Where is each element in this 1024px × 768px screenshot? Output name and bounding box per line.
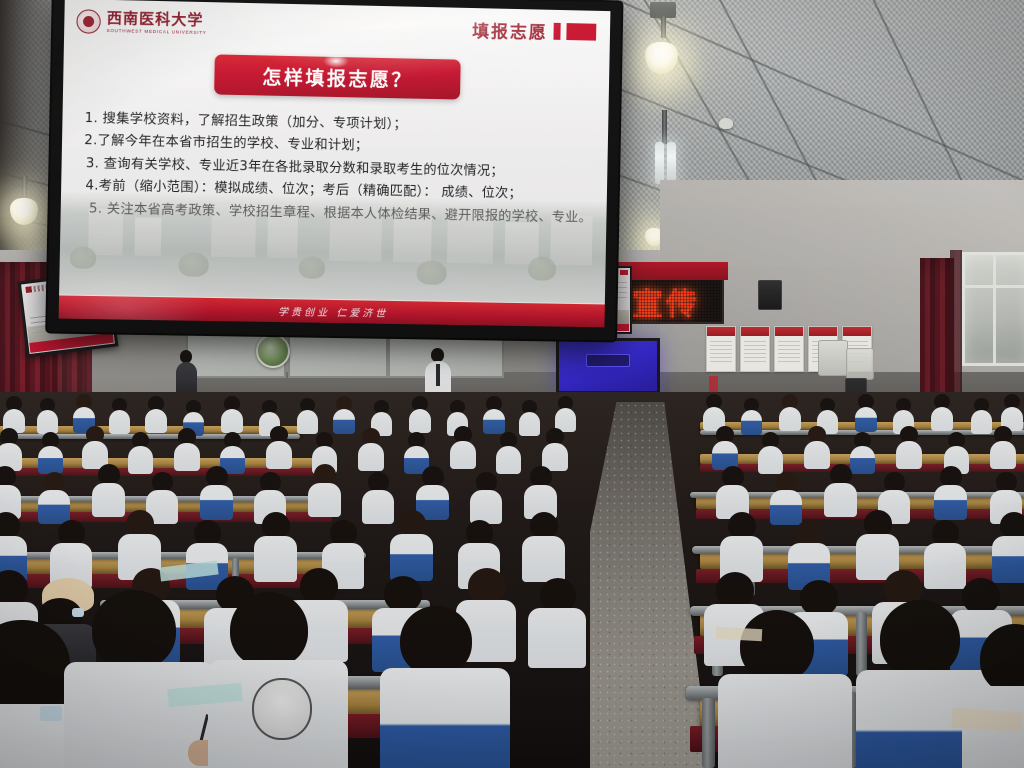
slide-title-banner: 怎样填报志愿？ bbox=[214, 54, 461, 99]
led-banner-text: 宣传 bbox=[632, 279, 700, 324]
window-right bbox=[962, 252, 1024, 366]
slide-footer-motto: 学贵创业 仁爱济世 bbox=[278, 303, 388, 320]
center-aisle bbox=[590, 402, 710, 768]
wall-panel-right bbox=[818, 340, 848, 376]
tv-window-badge bbox=[586, 354, 630, 367]
slide-header-title: 填报志愿 bbox=[472, 17, 548, 44]
projector-screen[interactable]: 西南医科大学 SOUTHWEST MEDICAL UNIVERSITY 填报志愿… bbox=[47, 0, 621, 340]
notice-poster bbox=[774, 326, 804, 372]
university-name-en: SOUTHWEST MEDICAL UNIVERSITY bbox=[107, 28, 207, 35]
audience-area bbox=[0, 392, 1024, 768]
slide-bullet-list: 1. 搜集学校资料，了解招生政策（加分、专项计划）； 2.了解今年在本省市招生的… bbox=[75, 108, 597, 230]
notice-poster bbox=[740, 326, 770, 372]
lecture-hall-scene: 宣传 bbox=[0, 0, 1024, 768]
header-accent-bar bbox=[553, 23, 560, 40]
presentation-slide: 西南医科大学 SOUTHWEST MEDICAL UNIVERSITY 填报志愿… bbox=[59, 0, 611, 327]
slide-header-right: 填报志愿 bbox=[472, 17, 596, 45]
aisle-texture bbox=[590, 402, 710, 768]
front-whiteboard-mid bbox=[288, 332, 388, 378]
ceiling-camera bbox=[719, 118, 733, 129]
university-name-cn: 西南医科大学 bbox=[107, 11, 207, 28]
header-accent-block bbox=[566, 23, 596, 41]
university-logo: 西南医科大学 SOUTHWEST MEDICAL UNIVERSITY bbox=[76, 9, 207, 36]
paper-on-desk bbox=[716, 627, 763, 641]
stage-display-blue[interactable] bbox=[556, 338, 660, 394]
face-mask bbox=[40, 706, 62, 721]
mini-monitor-badge bbox=[620, 270, 628, 275]
notice-poster bbox=[706, 326, 736, 372]
hoodie-graphic-face bbox=[252, 678, 312, 740]
speaker-right bbox=[758, 280, 782, 310]
wall-unit-corner bbox=[846, 348, 874, 380]
slide-header: 西南医科大学 SOUTHWEST MEDICAL UNIVERSITY 填报志愿 bbox=[64, 0, 611, 57]
face-mask bbox=[72, 608, 84, 617]
school-emblem bbox=[256, 334, 290, 368]
university-seal-icon bbox=[76, 9, 101, 34]
